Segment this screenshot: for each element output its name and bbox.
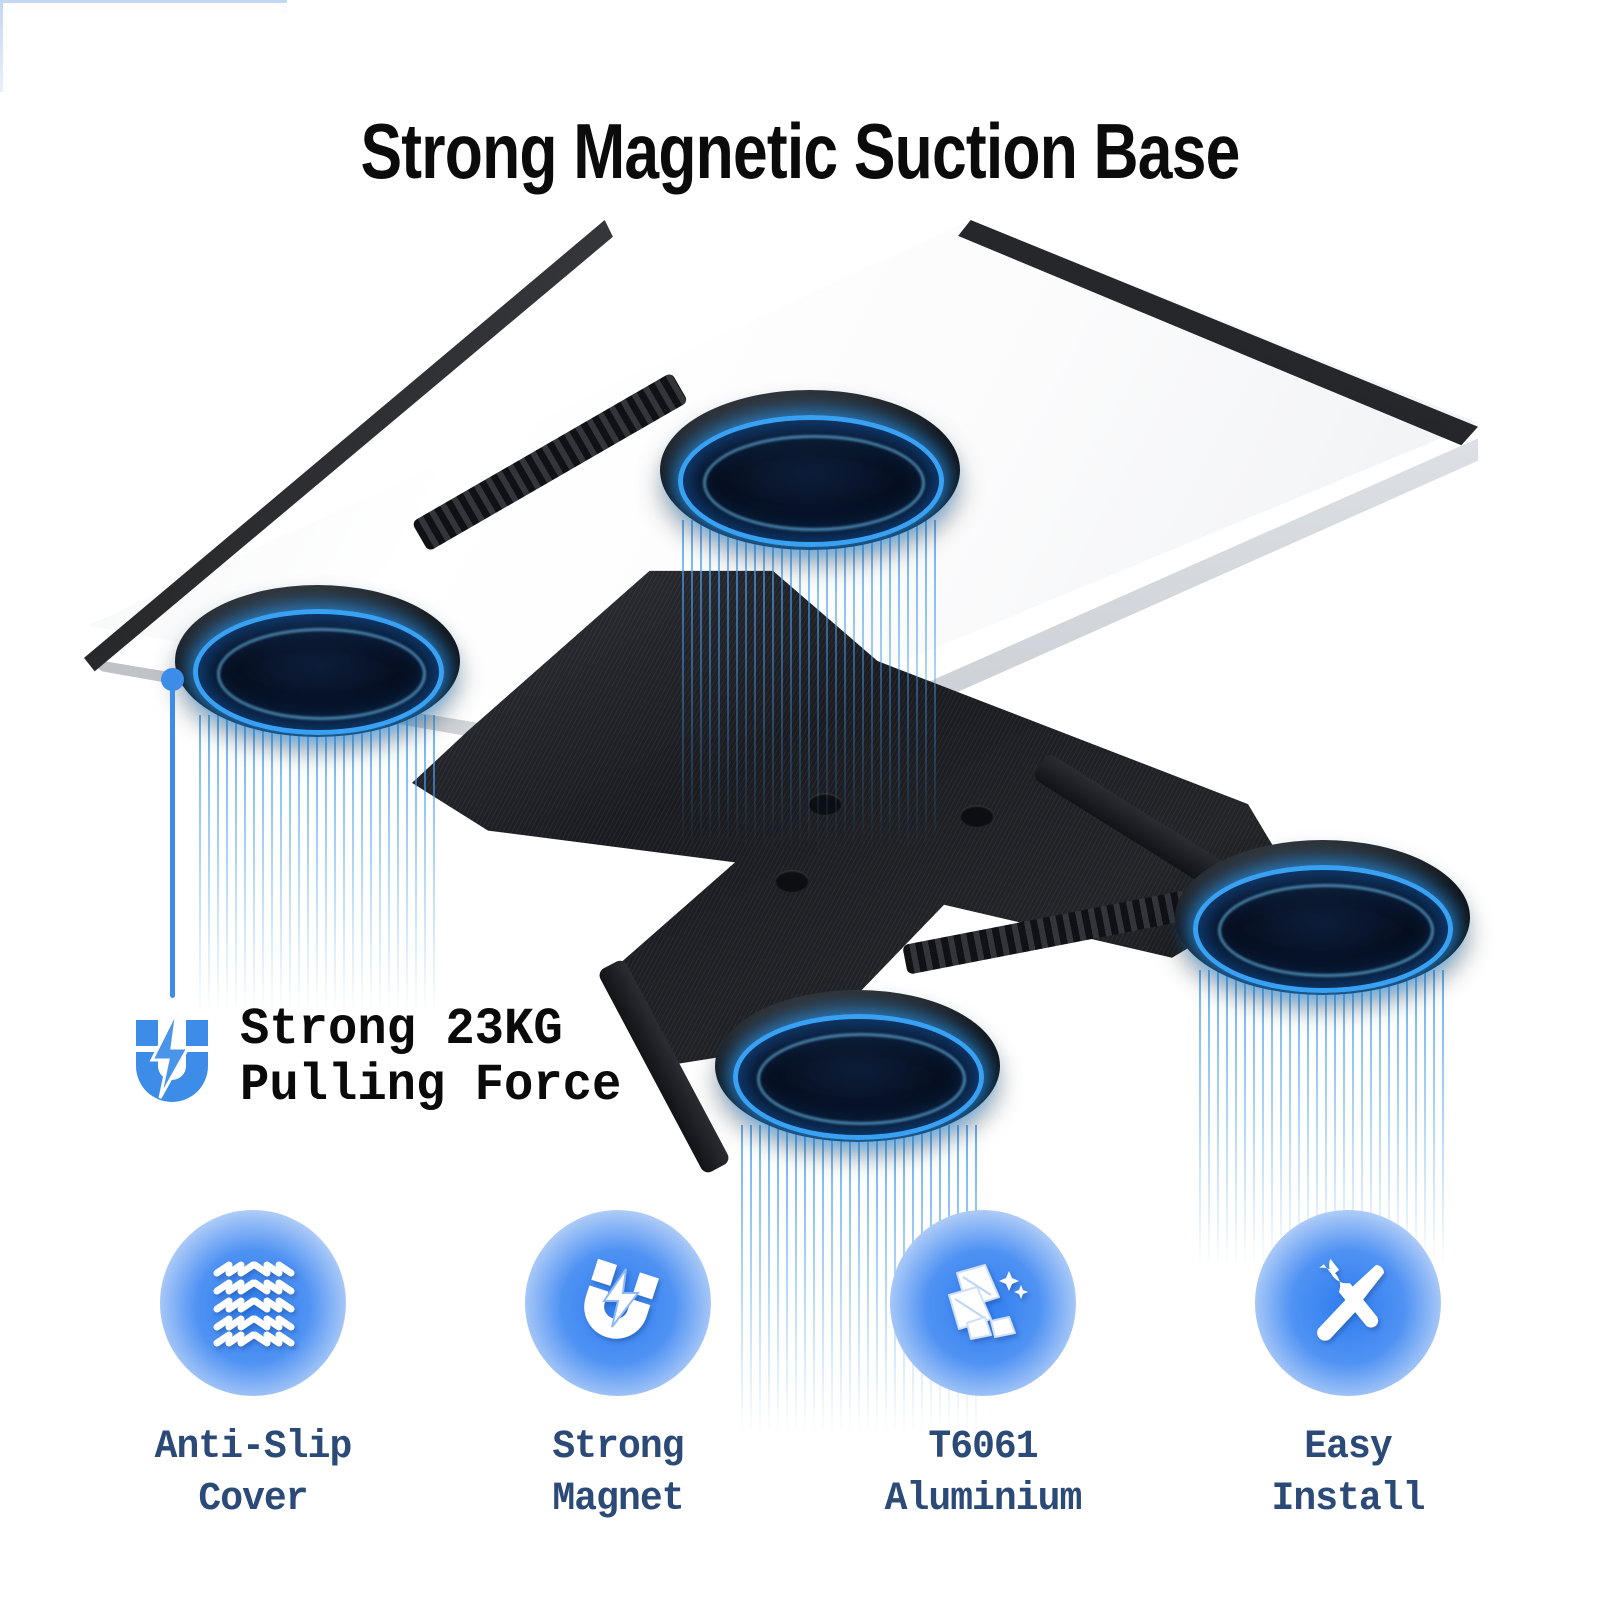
metal-ingots-icon bbox=[933, 1251, 1033, 1356]
feature-label-line-1: Strong bbox=[552, 1425, 683, 1470]
callout-line-2: Pulling Force bbox=[240, 1056, 621, 1115]
pad-glow-ring bbox=[733, 1014, 984, 1140]
page-title: Strong Magnetic Suction Base bbox=[160, 112, 1440, 190]
pad-glow-ring bbox=[1193, 865, 1453, 993]
magnetic-rays bbox=[199, 715, 439, 1015]
feature-label-line-2: Magnet bbox=[552, 1477, 683, 1522]
feature-anti-slip-cover: Anti-Slip Cover bbox=[103, 1210, 403, 1526]
screw-hole bbox=[775, 870, 809, 892]
feature-badge-circle bbox=[525, 1210, 711, 1396]
screw-hole bbox=[960, 805, 994, 827]
feature-label: Anti-Slip Cover bbox=[110, 1422, 395, 1526]
corner-frame-artifact-edge bbox=[0, 0, 3, 92]
pulling-force-callout: Strong 23KG Pulling Force bbox=[122, 1002, 646, 1114]
magnetic-rays bbox=[682, 520, 942, 850]
pad-glow-ring bbox=[678, 415, 944, 547]
feature-label-line-1: Easy bbox=[1304, 1425, 1391, 1470]
feature-label: Easy Install bbox=[1205, 1422, 1490, 1526]
feature-label-line-1: Anti-Slip bbox=[154, 1425, 351, 1470]
tools-icon bbox=[1298, 1251, 1398, 1356]
magnet-icon bbox=[568, 1251, 668, 1356]
feature-badge-circle bbox=[160, 1210, 346, 1396]
callout-text: Strong 23KG Pulling Force bbox=[240, 1002, 621, 1114]
pad-glow-ring bbox=[193, 609, 444, 735]
feature-badge-circle bbox=[1255, 1210, 1441, 1396]
magnet-bolt-icon bbox=[122, 1002, 222, 1114]
feature-label: T6061 Aluminium bbox=[840, 1422, 1125, 1526]
feature-label: Strong Magnet bbox=[475, 1422, 760, 1526]
callout-leader-line bbox=[170, 678, 175, 998]
feature-label-line-2: Cover bbox=[198, 1477, 307, 1522]
feature-label-line-1: T6061 bbox=[928, 1425, 1037, 1470]
corner-frame-artifact bbox=[0, 0, 287, 14]
feature-badge-circle bbox=[890, 1210, 1076, 1396]
feature-easy-install: Easy Install bbox=[1198, 1210, 1498, 1526]
feature-strong-magnet: Strong Magnet bbox=[468, 1210, 768, 1526]
anti-slip-tread-icon bbox=[203, 1251, 303, 1356]
feature-badge-row: Anti-Slip Cover Strong Magnet bbox=[0, 1210, 1600, 1600]
callout-line-1: Strong 23KG bbox=[240, 1000, 563, 1059]
feature-label-line-2: Aluminium bbox=[884, 1477, 1081, 1522]
feature-label-line-2: Install bbox=[1271, 1477, 1424, 1522]
feature-t6061-aluminium: T6061 Aluminium bbox=[833, 1210, 1133, 1526]
